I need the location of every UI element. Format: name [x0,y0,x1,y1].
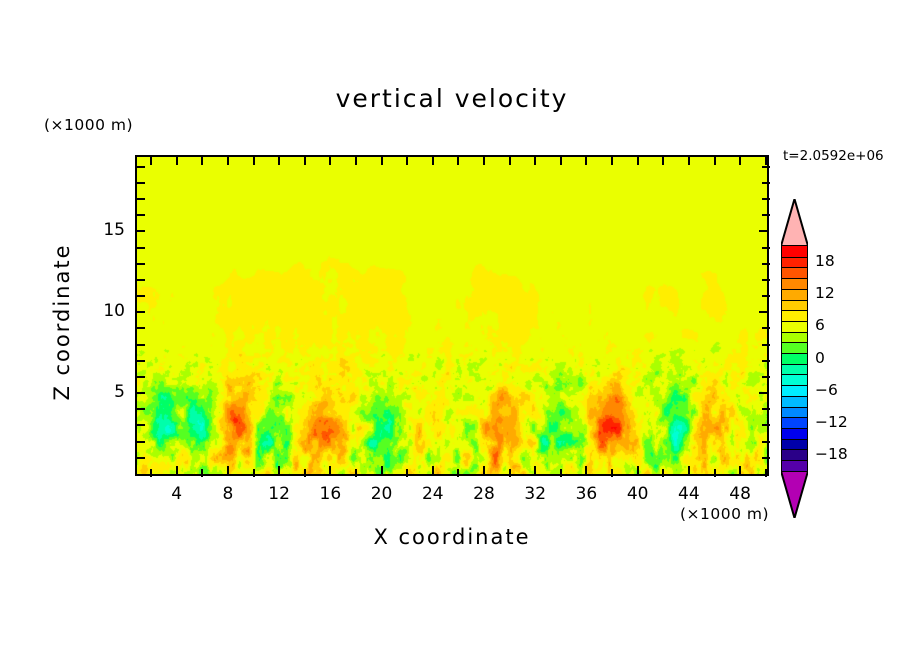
x-major-tick [688,466,690,474]
y-minor-tick [137,182,145,184]
colorbar-band [782,449,807,460]
y-minor-tick-right [762,376,770,378]
colorbar-band [782,321,807,332]
x-major-tick-top [534,157,536,165]
y-minor-tick [137,344,145,346]
y-minor-tick-right [762,166,770,168]
y-minor-tick [137,214,145,216]
colorbar-band [782,407,807,418]
y-minor-tick [137,360,145,362]
y-minor-tick-right [762,198,770,200]
x-major-tick [585,466,587,474]
x-major-tick [637,466,639,474]
x-tick-label: 12 [259,484,299,504]
x-minor-tick-top [201,157,203,165]
vertical-velocity-field [137,157,767,474]
y-major-tick-right [759,311,767,313]
y-tick-label: 10 [85,301,125,321]
y-minor-tick-right [762,279,770,281]
colorbar-band [782,364,807,375]
x-minor-tick [560,469,562,477]
x-tick-label: 36 [566,484,606,504]
x-minor-tick-top [355,157,357,165]
y-major-tick [137,230,145,232]
x-tick-label: 16 [310,484,350,504]
x-axis-unit-label: (×1000 m) [680,505,769,523]
y-axis-title: Z coordinate [50,222,74,422]
colorbar-band [782,257,807,268]
x-major-tick [432,466,434,474]
contour-plot-area [135,155,769,476]
y-minor-tick [137,327,145,329]
x-tick-label: 8 [208,484,248,504]
x-tick-label: 24 [413,484,453,504]
x-axis-title: X coordinate [0,525,904,549]
x-major-tick-top [278,157,280,165]
y-minor-tick [137,457,145,459]
y-tick-label: 5 [85,382,125,402]
x-minor-tick-top [457,157,459,165]
x-tick-label: 20 [362,484,402,504]
page-title: vertical velocity [0,84,904,113]
x-tick-label: 4 [157,484,197,504]
colorbar-band [782,300,807,311]
x-minor-tick [662,469,664,477]
x-tick-label: 40 [618,484,658,504]
x-minor-tick [457,469,459,477]
x-major-tick [176,466,178,474]
colorbar-band [782,396,807,407]
timestamp-annotation: t=2.0592e+06 [783,148,884,164]
colorbar-band [782,385,807,396]
y-minor-tick-right [762,214,770,216]
y-axis-unit-label: (×1000 m) [44,116,133,134]
x-minor-tick [201,469,203,477]
y-minor-tick-right [762,457,770,459]
x-minor-tick-top [714,157,716,165]
colorbar-band [782,374,807,385]
x-minor-tick [611,469,613,477]
x-major-tick [329,466,331,474]
colorbar-band [782,460,807,471]
x-minor-tick-top [406,157,408,165]
y-minor-tick-right [762,263,770,265]
y-minor-tick-right [762,344,770,346]
x-major-tick-top [585,157,587,165]
x-tick-label: 32 [515,484,555,504]
y-major-tick-right [759,230,767,232]
x-major-tick-top [381,157,383,165]
colorbar-tick-label: −12 [815,413,848,431]
colorbar-tick-label: −6 [815,381,838,399]
x-major-tick-top [637,157,639,165]
colorbar-band [782,246,807,257]
y-major-tick [137,392,145,394]
y-minor-tick-right [762,247,770,249]
x-minor-tick [253,469,255,477]
y-minor-tick [137,198,145,200]
colorbar-under-cap-outline [781,471,808,518]
colorbar-band [782,332,807,343]
y-minor-tick-right [762,441,770,443]
colorbar-band [782,267,807,278]
y-minor-tick [137,279,145,281]
colorbar-band [782,428,807,439]
x-minor-tick-top [304,157,306,165]
x-minor-tick-top [765,157,767,165]
x-minor-tick-top [611,157,613,165]
x-minor-tick [150,469,152,477]
colorbar-band [782,353,807,364]
x-major-tick [739,466,741,474]
x-minor-tick-top [509,157,511,165]
x-minor-tick [355,469,357,477]
colorbar-band [782,310,807,321]
y-minor-tick-right [762,182,770,184]
x-tick-label: 44 [669,484,709,504]
y-minor-tick [137,166,145,168]
x-major-tick-top [739,157,741,165]
x-minor-tick [714,469,716,477]
x-major-tick-top [329,157,331,165]
y-minor-tick [137,263,145,265]
x-major-tick-top [688,157,690,165]
y-minor-tick [137,376,145,378]
colorbar-tick-label: −18 [815,445,848,463]
y-tick-label: 15 [85,220,125,240]
x-minor-tick-top [560,157,562,165]
colorbar-band [782,342,807,353]
x-minor-tick-top [253,157,255,165]
colorbar-tick-label: 6 [815,316,825,334]
x-tick-label: 48 [720,484,760,504]
x-minor-tick-top [662,157,664,165]
y-minor-tick [137,295,145,297]
x-major-tick-top [483,157,485,165]
x-minor-tick-top [150,157,152,165]
x-major-tick-top [432,157,434,165]
y-minor-tick [137,424,145,426]
x-major-tick [227,466,229,474]
colorbar-band [782,278,807,289]
colorbar-band [782,289,807,300]
colorbar-over-cap-outline [781,199,808,246]
y-minor-tick-right [762,424,770,426]
y-minor-tick [137,408,145,410]
y-minor-tick-right [762,327,770,329]
y-minor-tick-right [762,360,770,362]
x-minor-tick [509,469,511,477]
colorbar-tick-label: 18 [815,252,835,270]
x-minor-tick [304,469,306,477]
y-major-tick [137,311,145,313]
x-minor-tick [765,469,767,477]
colorbar-tick-label: 0 [815,349,825,367]
y-minor-tick [137,441,145,443]
x-major-tick-top [227,157,229,165]
colorbar-tick-label: 12 [815,284,835,302]
colorbar-band [782,439,807,450]
x-major-tick [534,466,536,474]
y-minor-tick-right [762,295,770,297]
y-major-tick-right [759,392,767,394]
y-minor-tick [137,247,145,249]
x-tick-label: 28 [464,484,504,504]
x-minor-tick [406,469,408,477]
colorbar[interactable] [782,246,807,471]
x-major-tick-top [176,157,178,165]
y-minor-tick-right [762,408,770,410]
x-major-tick [381,466,383,474]
colorbar-band [782,417,807,428]
x-major-tick [278,466,280,474]
x-major-tick [483,466,485,474]
